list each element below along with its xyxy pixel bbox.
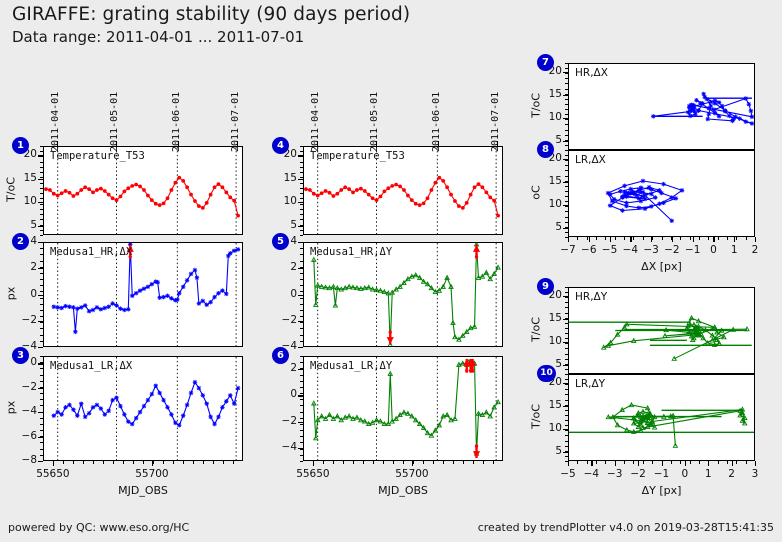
ytick-minor (565, 389, 568, 390)
xtick-mark (734, 237, 735, 242)
xtick-minor (133, 461, 134, 464)
ytick-minor (565, 297, 568, 298)
xtick-minor (671, 461, 672, 464)
ytick-minor (40, 375, 43, 376)
xtick-minor (193, 461, 194, 464)
ytick-minor (565, 124, 568, 125)
panel-badge-6[interactable]: 6 (272, 347, 289, 364)
xtick-minor (736, 237, 737, 240)
plot-panel-2[interactable]: Medusa1_HR,ΔX (43, 242, 243, 347)
xtick-minor (333, 461, 334, 464)
ylabel-2: px (5, 253, 18, 333)
ytick-label-6: 0 (269, 388, 297, 400)
xtick-minor (123, 461, 124, 464)
ytick-label-6: 2 (269, 362, 297, 374)
ytick-minor (300, 310, 303, 311)
ytick-minor (40, 356, 43, 357)
ytick-minor (565, 369, 568, 370)
ytick-mark (298, 226, 303, 227)
ytick-minor (565, 318, 568, 319)
ytick-minor (565, 227, 568, 228)
ytick-minor (40, 225, 43, 226)
xtick-mark (693, 237, 694, 242)
ylabel-9: T/oC (530, 289, 543, 369)
ytick-minor (300, 362, 303, 363)
xtick-minor (453, 461, 454, 464)
ytick-minor (300, 304, 303, 305)
plot-canvas-5 (304, 243, 502, 346)
xtick-minor (596, 237, 597, 240)
ytick-minor (40, 387, 43, 388)
xtick-minor (596, 461, 597, 464)
plot-panel-1[interactable]: Temperature_T53 (43, 146, 243, 235)
ytick-minor (40, 188, 43, 189)
xtick-mark (713, 237, 714, 242)
ytick-minor (40, 167, 43, 168)
xtick-minor (153, 461, 154, 464)
ytick-minor (565, 415, 568, 416)
xlabel-8: ΔX [px] (568, 260, 755, 273)
ytick-label-5: 2 (269, 261, 297, 273)
ytick-mark (38, 388, 43, 389)
xtick-minor (633, 461, 634, 464)
ytick-minor (565, 119, 568, 120)
plot-panel-9[interactable]: HR,ΔY (568, 287, 755, 374)
xtick-mark (755, 461, 756, 466)
panel-title-3: Medusa1_LR,ΔX (50, 360, 132, 372)
xtick-mark (630, 237, 631, 242)
plot-panel-10[interactable]: LR,ΔY (568, 374, 755, 461)
panel-title-8: LR,ΔX (575, 154, 606, 166)
xtick-minor (403, 461, 404, 464)
ytick-minor (565, 78, 568, 79)
ytick-label-4: 5 (269, 219, 297, 231)
ytick-minor (565, 140, 568, 141)
plot-panel-5[interactable]: Medusa1_HR,ΔY (303, 242, 503, 347)
xtick-minor (473, 461, 474, 464)
ytick-minor (300, 291, 303, 292)
xtick-mark (672, 237, 673, 242)
ytick-minor (300, 214, 303, 215)
ytick-minor (40, 214, 43, 215)
ytick-minor (40, 310, 43, 311)
ytick-minor (40, 151, 43, 152)
xtick-minor (662, 237, 663, 240)
xtick-label-10: 3 (725, 468, 782, 480)
ytick-mark (563, 182, 568, 183)
date-tick-label: 2011-07-01 (230, 92, 241, 152)
xtick-minor (652, 237, 653, 240)
panel-badge-10[interactable]: 10 (537, 365, 556, 382)
ytick-minor (300, 298, 303, 299)
xtick-minor (708, 237, 709, 240)
panel-badge-7[interactable]: 7 (537, 54, 554, 71)
ytick-minor (40, 449, 43, 450)
date-guide-line (116, 141, 117, 146)
ytick-minor (40, 405, 43, 406)
xtick-minor (373, 461, 374, 464)
xtick-minor (423, 461, 424, 464)
ytick-mark (38, 363, 43, 364)
ytick-minor (565, 222, 568, 223)
page-title: GIRAFFE: grating stability (90 days peri… (12, 4, 410, 25)
plot-panel-7[interactable]: HR,ΔX (568, 63, 755, 150)
plot-canvas-2 (44, 243, 242, 346)
ytick-minor (40, 183, 43, 184)
panel-title-1: Temperature_T53 (50, 150, 145, 162)
ytick-mark (298, 268, 303, 269)
ytick-minor (40, 198, 43, 199)
ytick-minor (565, 104, 568, 105)
ytick-minor (300, 198, 303, 199)
ytick-minor (40, 424, 43, 425)
ytick-minor (565, 165, 568, 166)
ytick-minor (565, 135, 568, 136)
xtick-minor (624, 237, 625, 240)
ylabel-1: T/oC (5, 149, 18, 229)
ytick-minor (40, 204, 43, 205)
ytick-minor (300, 193, 303, 194)
xtick-minor (163, 461, 164, 464)
ytick-minor (300, 424, 303, 425)
ytick-minor (565, 232, 568, 233)
ytick-minor (40, 273, 43, 274)
ytick-minor (300, 316, 303, 317)
ytick-minor (40, 335, 43, 336)
ytick-minor (565, 155, 568, 156)
ytick-minor (40, 322, 43, 323)
ytick-minor (40, 341, 43, 342)
ytick-mark (298, 422, 303, 423)
ytick-minor (300, 335, 303, 336)
date-tick-label: 2011-05-01 (109, 92, 120, 152)
xtick-minor (624, 461, 625, 464)
ytick-minor (565, 186, 568, 187)
ytick-minor (565, 176, 568, 177)
xtick-minor (483, 461, 484, 464)
xtick-minor (615, 237, 616, 240)
ytick-minor (565, 89, 568, 90)
ytick-minor (300, 322, 303, 323)
ytick-minor (40, 235, 43, 236)
ytick-minor (565, 201, 568, 202)
ytick-label-6: −2 (269, 415, 297, 427)
ytick-minor (40, 381, 43, 382)
ytick-mark (563, 141, 568, 142)
ytick-mark (563, 95, 568, 96)
ytick-minor (40, 418, 43, 419)
ytick-minor (40, 156, 43, 157)
xtick-mark (732, 461, 733, 466)
ytick-minor (300, 248, 303, 249)
ytick-minor (300, 381, 303, 382)
ytick-minor (300, 254, 303, 255)
panel-badge-4[interactable]: 4 (272, 137, 289, 154)
xtick-minor (587, 237, 588, 240)
footer-created-by: created by trendPlotter v4.0 on 2019-03-… (478, 521, 774, 534)
date-guide-line (237, 141, 238, 146)
ytick-minor (565, 196, 568, 197)
xtick-minor (680, 237, 681, 240)
ytick-minor (40, 146, 43, 147)
ytick-minor (565, 114, 568, 115)
panel-badge-3[interactable]: 3 (12, 347, 29, 364)
xtick-minor (680, 461, 681, 464)
xtick-minor (463, 461, 464, 464)
ytick-minor (300, 399, 303, 400)
ytick-minor (300, 273, 303, 274)
ytick-label-4: 15 (269, 172, 297, 184)
xtick-minor (577, 461, 578, 464)
xlabel-3: MJD_OBS (43, 484, 243, 497)
ytick-minor (565, 191, 568, 192)
ytick-minor (300, 235, 303, 236)
panel-title-6: Medusa1_LR,ΔY (310, 360, 392, 372)
xtick-mark (755, 237, 756, 242)
ytick-minor (565, 343, 568, 344)
xtick-minor (736, 461, 737, 464)
date-guide-line (178, 141, 179, 146)
xtick-minor (363, 461, 364, 464)
xtick-mark (589, 237, 590, 242)
xtick-mark (685, 461, 686, 466)
ytick-minor (40, 193, 43, 194)
ytick-minor (565, 405, 568, 406)
ytick-minor (300, 261, 303, 262)
ytick-minor (300, 449, 303, 450)
xtick-minor (699, 237, 700, 240)
ytick-label-4: 10 (269, 195, 297, 207)
xtick-label-6: 55700 (382, 468, 442, 480)
ytick-minor (300, 436, 303, 437)
ytick-minor (40, 304, 43, 305)
date-tick-label: 2011-06-01 (171, 92, 182, 152)
xtick-mark (610, 237, 611, 242)
ytick-minor (565, 313, 568, 314)
xtick-mark (638, 461, 639, 466)
ytick-minor (300, 146, 303, 147)
ytick-minor (300, 442, 303, 443)
ytick-minor (565, 456, 568, 457)
ytick-minor (565, 384, 568, 385)
ytick-minor (565, 206, 568, 207)
ytick-minor (40, 279, 43, 280)
ytick-minor (300, 209, 303, 210)
xtick-minor (383, 461, 384, 464)
ytick-minor (565, 83, 568, 84)
xtick-minor (605, 461, 606, 464)
panel-badge-1[interactable]: 1 (12, 137, 29, 154)
xtick-minor (213, 461, 214, 464)
ytick-minor (300, 285, 303, 286)
ytick-minor (565, 394, 568, 395)
ytick-minor (300, 347, 303, 348)
ytick-minor (565, 292, 568, 293)
ytick-minor (40, 248, 43, 249)
panel-badge-2[interactable]: 2 (12, 233, 29, 250)
ytick-minor (565, 94, 568, 95)
panel-badge-8[interactable]: 8 (537, 141, 554, 158)
ytick-minor (40, 455, 43, 456)
ylabel-7: T/oC (530, 65, 543, 145)
trend-plot-page: GIRAFFE: grating stability (90 days peri… (0, 0, 782, 542)
ytick-minor (300, 328, 303, 329)
date-tick-label: 2011-07-01 (490, 92, 501, 152)
ytick-minor (565, 374, 568, 375)
ytick-minor (40, 393, 43, 394)
footer-powered-by[interactable]: powered by QC: www.eso.org/HC (8, 521, 189, 534)
xtick-label-3: 55700 (122, 468, 182, 480)
ytick-minor (565, 170, 568, 171)
ytick-minor (565, 328, 568, 329)
ytick-minor (40, 285, 43, 286)
ytick-minor (300, 412, 303, 413)
xtick-minor (727, 237, 728, 240)
ytick-minor (300, 368, 303, 369)
ytick-minor (300, 156, 303, 157)
xtick-minor (433, 461, 434, 464)
ytick-mark (298, 179, 303, 180)
plot-panel-3[interactable]: Medusa1_LR,ΔX (43, 356, 243, 461)
plot-panel-4[interactable]: Temperature_T53 (303, 146, 503, 235)
ytick-minor (40, 219, 43, 220)
xtick-minor (746, 237, 747, 240)
ytick-minor (300, 204, 303, 205)
xtick-minor (643, 461, 644, 464)
xtick-minor (708, 461, 709, 464)
plot-panel-6[interactable]: Medusa1_LR,ΔY (303, 356, 503, 461)
ytick-minor (565, 130, 568, 131)
ytick-minor (300, 242, 303, 243)
ytick-minor (565, 446, 568, 447)
ytick-minor (565, 217, 568, 218)
xtick-minor (699, 461, 700, 464)
ytick-minor (565, 181, 568, 182)
date-guide-line (438, 141, 439, 146)
ytick-minor (40, 442, 43, 443)
ytick-minor (565, 287, 568, 288)
ytick-minor (300, 356, 303, 357)
ytick-minor (300, 219, 303, 220)
xtick-minor (690, 237, 691, 240)
xtick-minor (393, 461, 394, 464)
ytick-minor (565, 410, 568, 411)
ytick-minor (300, 167, 303, 168)
xtick-label-8: 2 (725, 244, 782, 256)
panel-title-4: Temperature_T53 (310, 150, 405, 162)
plot-canvas-3 (44, 357, 242, 460)
ytick-minor (565, 430, 568, 431)
ytick-minor (300, 230, 303, 231)
date-tick-label: 2011-04-01 (310, 92, 321, 152)
plot-panel-8[interactable]: LR,ΔX (568, 150, 755, 237)
ytick-minor (40, 242, 43, 243)
xtick-minor (671, 237, 672, 240)
ytick-minor (565, 73, 568, 74)
ytick-minor (40, 316, 43, 317)
xtick-minor (587, 461, 588, 464)
ytick-minor (565, 99, 568, 100)
ytick-minor (300, 387, 303, 388)
ytick-minor (565, 307, 568, 308)
xtick-mark (568, 237, 569, 242)
ytick-mark (38, 268, 43, 269)
ytick-minor (40, 368, 43, 369)
xtick-minor (93, 461, 94, 464)
panel-badge-5[interactable]: 5 (272, 233, 289, 250)
panel-title-9: HR,ΔY (575, 291, 607, 303)
ytick-minor (40, 436, 43, 437)
xtick-minor (746, 461, 747, 464)
xtick-minor (662, 461, 663, 464)
ytick-mark (38, 295, 43, 296)
ytick-minor (40, 254, 43, 255)
panel-title-7: HR,ΔX (575, 67, 608, 79)
page-subtitle: Data range: 2011-04-01 ... 2011-07-01 (12, 28, 304, 46)
ytick-minor (40, 461, 43, 462)
date-guide-line (57, 141, 58, 146)
ytick-minor (565, 63, 568, 64)
xtick-minor (718, 237, 719, 240)
ytick-minor (300, 375, 303, 376)
xtick-minor (643, 237, 644, 240)
ytick-minor (565, 451, 568, 452)
xtick-minor (203, 461, 204, 464)
ytick-minor (300, 341, 303, 342)
xtick-minor (233, 461, 234, 464)
xtick-minor (652, 461, 653, 464)
xtick-minor (353, 461, 354, 464)
xtick-minor (143, 461, 144, 464)
xlabel-6: MJD_OBS (303, 484, 503, 497)
ytick-minor (565, 348, 568, 349)
panel-title-10: LR,ΔY (575, 378, 605, 390)
ytick-minor (565, 364, 568, 365)
panel-title-5: Medusa1_HR,ΔY (310, 246, 392, 258)
xtick-minor (633, 237, 634, 240)
xtick-mark (568, 461, 569, 466)
ytick-minor (300, 225, 303, 226)
ytick-minor (300, 279, 303, 280)
ytick-minor (300, 177, 303, 178)
ytick-minor (300, 267, 303, 268)
ytick-label-6: −4 (269, 441, 297, 453)
panel-badge-9[interactable]: 9 (537, 278, 554, 295)
ytick-minor (565, 354, 568, 355)
ytick-mark (298, 295, 303, 296)
xtick-minor (343, 461, 344, 464)
ytick-minor (565, 145, 568, 146)
ytick-minor (40, 291, 43, 292)
ytick-minor (40, 267, 43, 268)
ytick-minor (565, 68, 568, 69)
xlabel-10: ΔY [px] (568, 484, 755, 497)
xtick-minor (615, 461, 616, 464)
ytick-minor (565, 323, 568, 324)
ylabel-8: oC (530, 152, 543, 232)
ytick-minor (300, 393, 303, 394)
ytick-minor (300, 183, 303, 184)
ytick-minor (40, 162, 43, 163)
ytick-minor (300, 151, 303, 152)
xtick-minor (443, 461, 444, 464)
ytick-minor (40, 230, 43, 231)
panel-title-2: Medusa1_HR,ΔX (50, 246, 132, 258)
xtick-minor (113, 461, 114, 464)
ytick-mark (38, 179, 43, 180)
xtick-label-3: 55650 (23, 468, 83, 480)
ytick-minor (40, 430, 43, 431)
